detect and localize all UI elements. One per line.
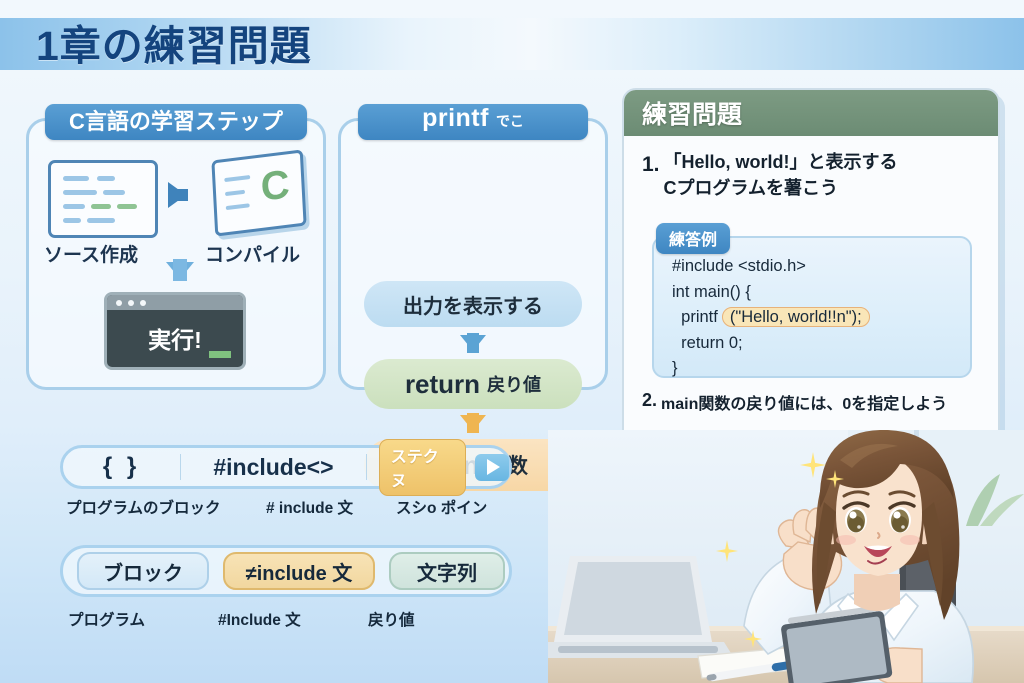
terminal-dot-icon xyxy=(116,300,122,306)
arrow-down-to-run-icon xyxy=(166,262,194,279)
exercise-item-1-line1: 「Hello, world!」と表示する xyxy=(664,152,898,172)
exercise-item-1-text: 「Hello, world!」と表示する Cプログラムを薯こう xyxy=(664,150,898,201)
label-compile: コンパイル xyxy=(205,240,300,267)
code-line-2: int main() { xyxy=(672,280,970,306)
character-illustration xyxy=(548,430,1024,683)
flow-arrow-1-icon xyxy=(460,335,486,351)
tag-braces[interactable]: { } xyxy=(63,448,180,486)
printf-header: printf でこ xyxy=(358,104,588,140)
tag-step-badge[interactable]: ステクヌ xyxy=(379,439,467,496)
flow-step-return-label: 戻り値 xyxy=(487,371,541,397)
terminal-cursor-icon xyxy=(209,351,231,358)
terminal-dot-icon xyxy=(128,300,134,306)
caption-row-1: プログラムのブロック # include 文 スシo ポイン xyxy=(66,496,516,518)
sparkle-icon xyxy=(800,452,826,478)
terminal-dot-icon xyxy=(140,300,146,306)
sparkle-icon xyxy=(716,540,738,562)
printf-header-sub: でこ xyxy=(496,111,524,131)
compile-file-icon: C xyxy=(211,149,306,236)
code-line-1: #include <stdio.h> xyxy=(672,254,970,280)
flow-step-return: return 戻り値 xyxy=(364,359,582,409)
chip-block[interactable]: ブロック xyxy=(77,552,209,590)
code-line-3: printf("Hello, world!!n"); xyxy=(672,305,970,331)
flow-step-output-label: 出力を表示する xyxy=(403,290,543,319)
flow-step-return-keyword: return xyxy=(405,369,480,400)
flow-arrow-2-icon xyxy=(460,415,486,431)
arrow-source-to-compile-icon xyxy=(168,182,186,208)
tag-row-1: { } #include<> ステクヌ xyxy=(60,445,512,489)
chip-include[interactable]: ≠include 文 xyxy=(223,552,375,590)
caption-2-3: 戻り値 xyxy=(368,608,488,630)
printf-header-main: printf xyxy=(422,104,489,133)
chip-string[interactable]: 文字列 xyxy=(389,552,505,590)
terminal-window: 実行! xyxy=(104,292,246,370)
play-icon[interactable] xyxy=(475,454,509,481)
flow-step-output: 出力を表示する xyxy=(364,281,582,327)
caption-2-1: プログラム xyxy=(68,608,218,630)
caption-row-2: プログラム #Include 文 戻り値 xyxy=(68,608,518,630)
code-block: #include <stdio.h> int main() { printf("… xyxy=(652,236,972,378)
label-source-creation: ソース作成 xyxy=(44,240,138,267)
card-exercises: 練習問題 1. 「Hello, world!」と表示する Cプログラムを薯こう … xyxy=(622,88,1000,452)
exercise-item-1-line2: Cプログラムを薯こう xyxy=(664,178,838,198)
caption-1-3: スシo ポイン xyxy=(396,496,516,518)
tag-include[interactable]: #include<> xyxy=(181,448,366,486)
caption-1-2: # include 文 xyxy=(266,496,396,518)
exercise-item-1: 1. 「Hello, world!」と表示する Cプログラムを薯こう xyxy=(642,150,986,201)
terminal-run-label: 実行! xyxy=(107,321,243,355)
learning-steps-header-label: C言語の学習ステップ xyxy=(69,104,283,136)
code-line-5: } xyxy=(672,356,970,382)
exercises-header: 練習問題 xyxy=(624,90,998,136)
answer-example-badge: 練答例 xyxy=(656,223,730,254)
exercise-item-2: 2. main関数の戻り値には、0を指定しよう xyxy=(642,390,994,414)
exercise-item-2-number: 2. xyxy=(642,390,657,414)
code-line-3-highlight: ("Hello, world!!n"); xyxy=(722,307,870,327)
sparkle-icon xyxy=(826,470,844,488)
tag-row-2: ブロック ≠include 文 文字列 xyxy=(60,545,512,597)
slide-root: 1章の練習問題 C言語の学習ステップ C ソース作成 コンパイル 実行! 出 xyxy=(0,0,1024,683)
sparkle-icon xyxy=(744,630,762,648)
exercises-header-label: 練習問題 xyxy=(642,95,742,131)
source-file-icon xyxy=(48,160,158,238)
card-printf-flow: 出力を表示する return 戻り値 main 関数 xyxy=(338,118,608,390)
tag-divider xyxy=(366,454,367,480)
page-title: 1章の練習問題 xyxy=(36,12,312,72)
learning-steps-header: C言語の学習ステップ xyxy=(45,104,307,140)
exercise-item-1-number: 1. xyxy=(642,150,660,201)
caption-2-2: #Include 文 xyxy=(218,608,368,630)
code-line-4: return 0; xyxy=(672,331,970,357)
c-language-letter: C xyxy=(260,164,291,208)
exercise-item-2-text: main関数の戻り値には、0を指定しよう xyxy=(661,390,947,414)
code-line-3-prefix: printf xyxy=(672,308,718,326)
caption-1-1: プログラムのブロック xyxy=(66,496,266,518)
